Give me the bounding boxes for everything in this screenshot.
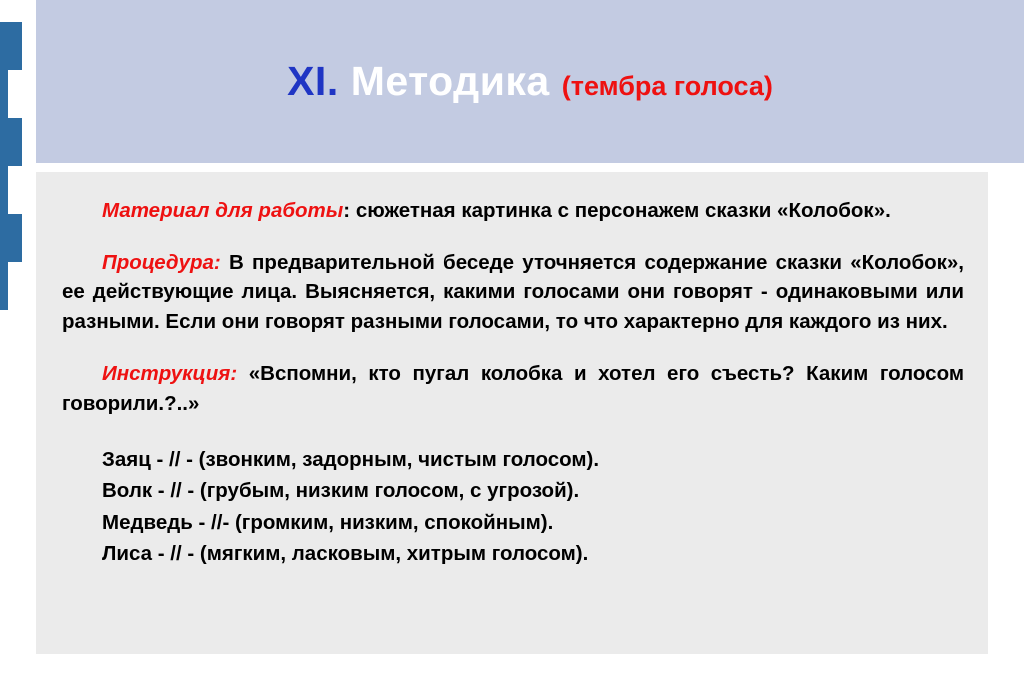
left-decorative-rail: [0, 0, 36, 682]
list-item: Медведь - //- (громким, низким, спокойны…: [102, 507, 964, 538]
paragraph-instruction: Инструкция: «Вспомни, кто пугал колобка …: [62, 359, 964, 418]
slide: XI. Методика (тембра голоса) Материал дл…: [0, 0, 1024, 682]
title-main-text: Методика: [351, 58, 550, 105]
paragraph-material-text: сюжетная картинка с персонажем сказки «К…: [350, 199, 891, 222]
character-voice-list: Заяц - // - (звонким, задорным, чистым г…: [62, 444, 964, 569]
paragraph-material-lead: Материал для работы: [102, 199, 343, 222]
rail-block-2: [0, 118, 22, 166]
title-roman-numeral: XI.: [287, 58, 339, 105]
rail-line-2: [0, 166, 8, 214]
rail-line-3: [0, 262, 8, 310]
rail-block-1: [0, 22, 22, 70]
rail-line-1: [0, 70, 8, 118]
content-body: Материал для работы: сюжетная картинка с…: [62, 196, 964, 636]
paragraph-instruction-lead: Инструкция:: [102, 362, 237, 385]
title-subtitle: (тембра голоса): [562, 71, 773, 102]
list-item: Лиса - // - (мягким, ласковым, хитрым го…: [102, 538, 964, 569]
paragraph-procedure-lead: Процедура:: [102, 251, 221, 274]
list-item: Волк - // - (грубым, низким голосом, с у…: [102, 475, 964, 506]
rail-block-3: [0, 214, 22, 262]
list-item: Заяц - // - (звонким, задорным, чистым г…: [102, 444, 964, 475]
slide-title: XI. Методика (тембра голоса): [36, 0, 1024, 163]
paragraph-material: Материал для работы: сюжетная картинка с…: [62, 196, 964, 226]
paragraph-procedure: Процедура: В предварительной беседе уточ…: [62, 248, 964, 337]
